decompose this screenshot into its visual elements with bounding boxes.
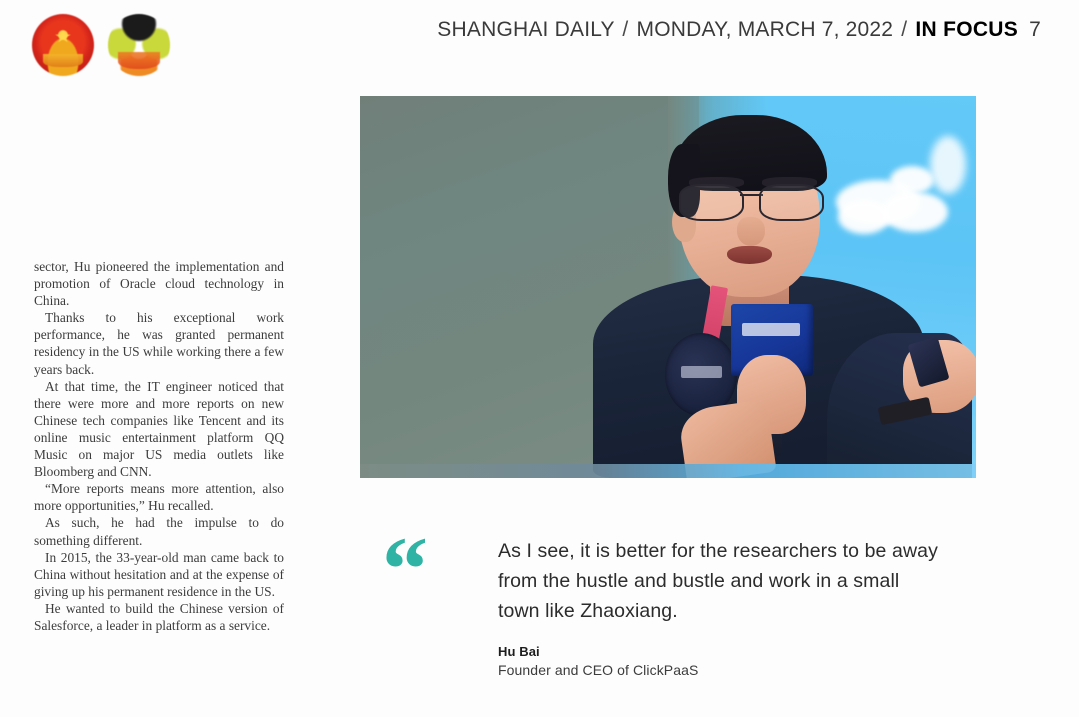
pull-quote-attribution-name: Hu Bai — [498, 644, 942, 659]
subject-nose — [737, 217, 765, 246]
section-name: IN FOCUS — [915, 18, 1018, 41]
article-paragraph: In 2015, the 33-year-old man came back t… — [34, 549, 284, 600]
article-photo — [360, 96, 976, 478]
glasses-lens-left — [679, 184, 744, 221]
publication-name: SHANGHAI DAILY — [437, 18, 614, 41]
national-emblem-of-china-icon — [32, 14, 94, 76]
photo-subject — [606, 115, 951, 478]
masthead-line: SHANGHAI DAILY / MONDAY, MARCH 7, 2022 /… — [437, 18, 1041, 42]
pull-quote-attribution-role: Founder and CEO of ClickPaaS — [498, 662, 942, 678]
masthead-separator-2: / — [899, 18, 909, 41]
page-number: 7 — [1024, 18, 1041, 41]
masthead: SHANGHAI DAILY / MONDAY, MARCH 7, 2022 /… — [0, 0, 1079, 96]
pull-quote-body: As I see, it is better for the researche… — [498, 536, 942, 678]
photo-bottom-strip — [360, 464, 976, 478]
article-paragraph: sector, Hu pioneered the implementation … — [34, 258, 284, 309]
quotation-mark-icon: “ — [382, 538, 428, 600]
article-paragraph: He wanted to build the Chinese version o… — [34, 600, 284, 634]
masthead-separator-1: / — [620, 18, 630, 41]
article-text-column: sector, Hu pioneered the implementation … — [34, 258, 284, 634]
emblem-group — [32, 14, 170, 76]
article-paragraph: “More reports means more attention, also… — [34, 480, 284, 514]
glasses-lens-right — [759, 184, 824, 221]
article-paragraph: Thanks to his exceptional work performan… — [34, 309, 284, 377]
article-paragraph: At that time, the IT engineer noticed th… — [34, 378, 284, 481]
cppcc-emblem-icon — [108, 14, 170, 76]
issue-date: MONDAY, MARCH 7, 2022 — [637, 18, 894, 41]
pull-quote-text: As I see, it is better for the researche… — [498, 536, 942, 626]
subject-mouth — [727, 246, 772, 264]
article-paragraph: As such, he had the impulse to do someth… — [34, 514, 284, 548]
subject-glasses-icon — [679, 184, 824, 217]
pull-quote-block: “ As I see, it is better for the researc… — [382, 536, 942, 678]
